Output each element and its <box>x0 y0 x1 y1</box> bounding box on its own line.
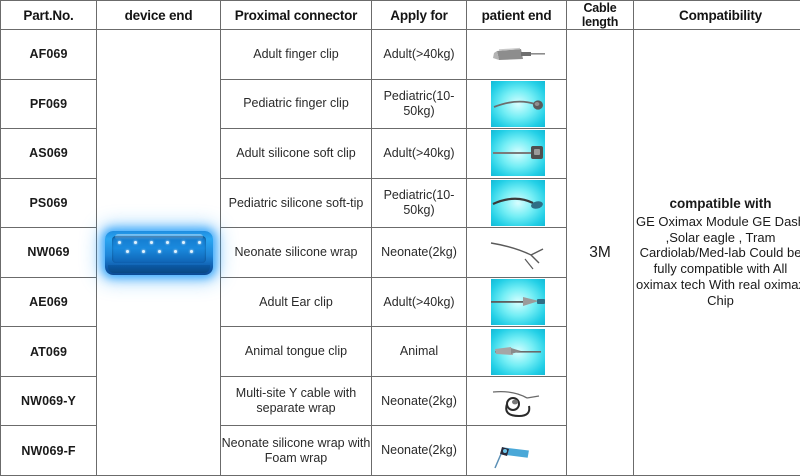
connector-pin <box>158 250 161 253</box>
adult-silicone-soft-clip-art <box>469 130 565 176</box>
cell-patient-end <box>467 79 567 129</box>
neonate-silicone-wrap-art <box>469 229 565 275</box>
cell-patient-end <box>467 376 567 426</box>
cell-patient-end <box>467 30 567 80</box>
connector-pin-array <box>116 240 202 260</box>
connector-lip <box>108 265 210 273</box>
cell-proximal: Neonate silicone wrap <box>221 228 372 278</box>
pediatric-finger-clip-photo <box>469 81 565 127</box>
column-header-cable-length: Cable length <box>567 1 634 30</box>
compatibility-heading: compatible with <box>634 196 800 212</box>
cell-part-no: PF069 <box>1 79 97 129</box>
animal-tongue-clip-photo <box>469 329 565 375</box>
pediatric-silicone-soft-tip-photo <box>469 180 565 226</box>
neonate-foam-wrap-art <box>469 428 565 474</box>
cell-apply-for: Adult(>40kg) <box>372 30 467 80</box>
cell-proximal: Adult Ear clip <box>221 277 372 327</box>
adult-silicone-soft-clip-photo <box>469 130 565 176</box>
connector-pin <box>118 241 121 244</box>
connector-pin <box>174 250 177 253</box>
adult-ear-clip-photo <box>469 279 565 325</box>
pediatric-finger-clip-art <box>469 81 565 127</box>
cell-proximal: Pediatric finger clip <box>221 79 372 129</box>
neonate-foam-wrap-photo <box>469 428 565 474</box>
multi-site-y-cable-art <box>469 378 565 424</box>
cell-apply-for: Neonate(2kg) <box>372 376 467 426</box>
cell-proximal: Adult silicone soft clip <box>221 129 372 179</box>
adult-ear-clip-art <box>469 279 565 325</box>
cell-part-no: AS069 <box>1 129 97 179</box>
connector-pin <box>166 241 169 244</box>
cell-part-no: AE069 <box>1 277 97 327</box>
multi-site-y-cable-photo <box>469 378 565 424</box>
connector-pin <box>126 250 129 253</box>
column-header-apply-for: Apply for <box>372 1 467 30</box>
cell-proximal: Multi-site Y cable with separate wrap <box>221 376 372 426</box>
column-header-proximal: Proximal connector <box>221 1 372 30</box>
cell-part-no: AT069 <box>1 327 97 377</box>
table-row: AF069 <box>1 30 800 80</box>
adult-finger-clip-art <box>469 31 565 77</box>
connector-pin <box>198 241 201 244</box>
cell-proximal: Pediatric silicone soft-tip <box>221 178 372 228</box>
column-header-compatibility: Compatibility <box>634 1 800 30</box>
spec-sheet: Part.No. device end Proximal connector A… <box>0 0 800 476</box>
pediatric-silicone-soft-tip-art <box>469 180 565 226</box>
animal-tongue-clip-art <box>469 329 565 375</box>
cell-part-no: AF069 <box>1 30 97 80</box>
cell-apply-for: Adult(>40kg) <box>372 129 467 179</box>
connector-pin <box>182 241 185 244</box>
cell-patient-end <box>467 277 567 327</box>
cell-patient-end <box>467 327 567 377</box>
neonate-silicone-wrap-photo <box>469 229 565 275</box>
header-row: Part.No. device end Proximal connector A… <box>1 1 800 30</box>
cell-patient-end <box>467 178 567 228</box>
connector-pin <box>150 241 153 244</box>
cell-part-no: NW069 <box>1 228 97 278</box>
cell-part-no: PS069 <box>1 178 97 228</box>
cell-apply-for: Neonate(2kg) <box>372 228 467 278</box>
table-body: AF069 <box>1 30 800 476</box>
cell-patient-end <box>467 129 567 179</box>
cell-proximal: Neonate silicone wrap with Foam wrap <box>221 426 372 476</box>
cell-proximal: Adult finger clip <box>221 30 372 80</box>
connector-pin <box>190 250 193 253</box>
cell-apply-for: Neonate(2kg) <box>372 426 467 476</box>
cell-part-no: NW069-F <box>1 426 97 476</box>
adult-finger-clip-photo <box>469 31 565 77</box>
cell-patient-end <box>467 228 567 278</box>
cell-part-no: NW069-Y <box>1 376 97 426</box>
connector-body <box>105 231 213 275</box>
cell-cable-length: 3M <box>567 30 634 476</box>
cell-apply-for: Adult(>40kg) <box>372 277 467 327</box>
cell-apply-for: Pediatric(10-50kg) <box>372 178 467 228</box>
blue-oximetry-connector-photo <box>100 225 218 281</box>
product-spec-table: Part.No. device end Proximal connector A… <box>0 0 800 476</box>
connector-pin <box>142 250 145 253</box>
column-header-patient-end: patient end <box>467 1 567 30</box>
cell-patient-end <box>467 426 567 476</box>
column-header-device-end: device end <box>97 1 221 30</box>
cell-device-end <box>97 30 221 476</box>
connector-pin <box>134 241 137 244</box>
cell-apply-for: Pediatric(10-50kg) <box>372 79 467 129</box>
column-header-part-no: Part.No. <box>1 1 97 30</box>
table-header: Part.No. device end Proximal connector A… <box>1 1 800 30</box>
compatibility-body: GE Oximax Module GE Dash ,Solar eagle , … <box>636 214 800 308</box>
cell-apply-for: Animal <box>372 327 467 377</box>
cell-compatibility: compatible with GE Oximax Module GE Dash… <box>634 30 800 476</box>
cell-proximal: Animal tongue clip <box>221 327 372 377</box>
